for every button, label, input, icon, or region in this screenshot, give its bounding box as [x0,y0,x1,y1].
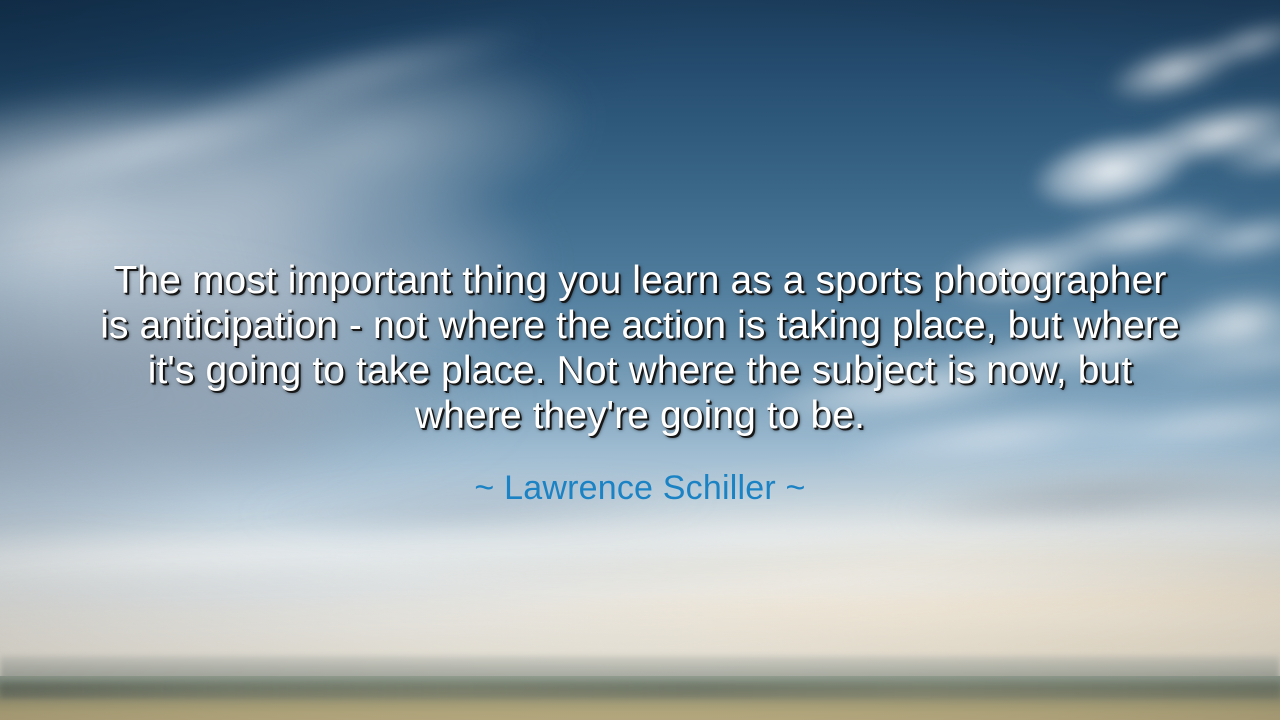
foreground-ground [0,676,1280,720]
quote-text-block: The most important thing you learn as a … [0,258,1280,509]
quote-author-attribution: ~ Lawrence Schiller ~ [96,467,1184,509]
quote-card: The most important thing you learn as a … [0,0,1280,720]
quote-body-text: The most important thing you learn as a … [96,258,1184,438]
